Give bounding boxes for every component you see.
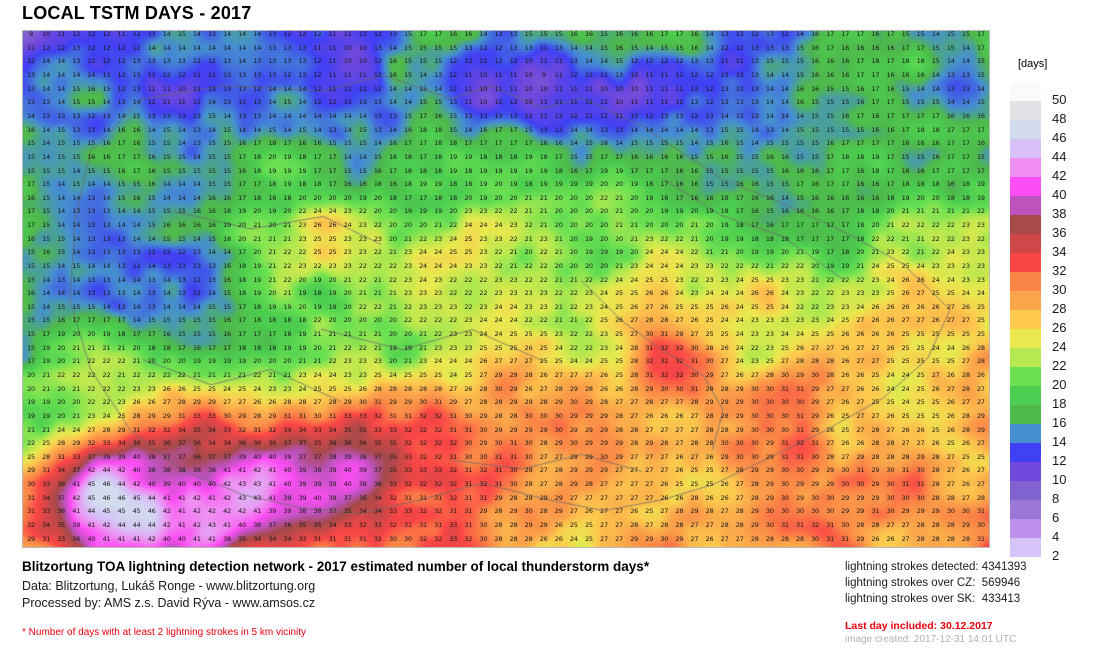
legend-value-label: 8: [1052, 492, 1059, 505]
map-value-cell: 20: [386, 358, 400, 365]
map-value-cell: 13: [718, 86, 732, 93]
map-value-cell: 23: [341, 249, 355, 256]
map-value-cell: 15: [356, 140, 370, 147]
map-value-cell: 29: [974, 427, 988, 434]
map-value-cell: 16: [808, 58, 822, 65]
map-value-cell: 17: [175, 345, 189, 352]
map-value-cell: 14: [461, 127, 475, 134]
map-value-cell: 19: [401, 345, 415, 352]
map-value-cell: 17: [24, 222, 38, 229]
map-value-cell: 32: [431, 440, 445, 447]
map-value-cell: 17: [250, 331, 264, 338]
map-value-cell: 20: [582, 208, 596, 215]
map-value-cell: 25: [416, 372, 430, 379]
map-value-cell: 17: [114, 317, 128, 324]
map-value-cell: 16: [687, 45, 701, 52]
map-value-cell: 15: [160, 317, 174, 324]
map-value-cell: 13: [175, 113, 189, 120]
map-value-cell: 21: [899, 236, 913, 243]
map-value-cell: 29: [823, 481, 837, 488]
map-value-cell: 21: [552, 317, 566, 324]
map-value-cell: 22: [24, 440, 38, 447]
map-value-cell: 12: [672, 72, 686, 79]
map-value-cell: 14: [205, 249, 219, 256]
map-value-cell: 19: [974, 195, 988, 202]
map-value-cell: 38: [295, 508, 309, 515]
map-value-cell: 20: [265, 222, 279, 229]
map-value-cell: 25: [868, 372, 882, 379]
map-value-cell: 31: [446, 454, 460, 461]
map-value-cell: 17: [929, 168, 943, 175]
map-value-cell: 23: [295, 263, 309, 270]
map-value-cell: 21: [929, 208, 943, 215]
map-value-cell: 18: [431, 127, 445, 134]
map-value-cell: 28: [748, 481, 762, 488]
map-value-cell: 21: [250, 222, 264, 229]
map-value-cell: 15: [537, 31, 551, 38]
map-value-row: 9101112121211121314151413141414131212121…: [22, 31, 990, 38]
map-value-cell: 16: [220, 263, 234, 270]
map-value-cell: 15: [748, 168, 762, 175]
map-value-cell: 16: [220, 331, 234, 338]
map-value-cell: 10: [476, 72, 490, 79]
map-value-cell: 19: [582, 181, 596, 188]
map-value-cell: 46: [114, 495, 128, 502]
map-value-cell: 14: [54, 263, 68, 270]
map-value-cell: 23: [868, 277, 882, 284]
map-value-cell: 16: [763, 222, 777, 229]
map-value-cell: 13: [356, 99, 370, 106]
map-value-cell: 14: [175, 127, 189, 134]
map-value-row: 2931343742444240383838383841414241403938…: [22, 467, 990, 474]
map-value-cell: 15: [718, 127, 732, 134]
map-value-cell: 29: [793, 495, 807, 502]
map-value-cell: 18: [250, 345, 264, 352]
map-value-cell: 33: [386, 508, 400, 515]
map-value-cell: 19: [582, 236, 596, 243]
map-value-cell: 26: [944, 413, 958, 420]
map-value-cell: 35: [54, 522, 68, 529]
map-value-cell: 16: [868, 31, 882, 38]
map-value-cell: 18: [250, 317, 264, 324]
map-value-cell: 19: [491, 168, 505, 175]
map-value-cell: 23: [537, 304, 551, 311]
map-value-cell: 26: [838, 331, 852, 338]
map-value-cell: 13: [99, 72, 113, 79]
map-value-cell: 17: [959, 140, 973, 147]
map-value-cell: 35: [341, 427, 355, 434]
map-value-cell: 14: [54, 290, 68, 297]
map-value-cell: 22: [929, 249, 943, 256]
map-value-cell: 14: [295, 113, 309, 120]
map-value-cell: 22: [371, 249, 385, 256]
map-value-cell: 22: [582, 345, 596, 352]
map-value-cell: 13: [265, 58, 279, 65]
map-value-cell: 21: [356, 290, 370, 297]
map-value-cell: 13: [69, 45, 83, 52]
map-value-cell: 31: [461, 522, 475, 529]
map-value-cell: 24: [733, 290, 747, 297]
map-value-cell: 13: [748, 58, 762, 65]
map-value-cell: 31: [461, 427, 475, 434]
map-value-cell: 19: [672, 208, 686, 215]
map-value-cell: 14: [778, 195, 792, 202]
map-value-cell: 15: [220, 127, 234, 134]
map-value-cell: 20: [250, 249, 264, 256]
map-value-cell: 27: [823, 399, 837, 406]
map-value-cell: 28: [944, 536, 958, 543]
map-value-cell: 39: [295, 481, 309, 488]
map-value-cell: 29: [24, 467, 38, 474]
map-value-cell: 14: [160, 290, 174, 297]
map-value-cell: 24: [672, 249, 686, 256]
map-value-cell: 19: [265, 304, 279, 311]
map-value-cell: 24: [416, 263, 430, 270]
map-value-cell: 17: [69, 317, 83, 324]
map-value-cell: 13: [190, 263, 204, 270]
map-value-cell: 15: [944, 45, 958, 52]
map-value-cell: 45: [84, 481, 98, 488]
map-value-cell: 21: [537, 208, 551, 215]
map-value-cell: 15: [763, 168, 777, 175]
map-value-cell: 28: [703, 386, 717, 393]
map-value-cell: 18: [265, 181, 279, 188]
map-value-cell: 12: [295, 31, 309, 38]
map-value-cell: 24: [733, 277, 747, 284]
map-value-cell: 16: [899, 140, 913, 147]
map-value-cell: 16: [401, 127, 415, 134]
map-value-cell: 37: [326, 508, 340, 515]
map-value-cell: 42: [99, 522, 113, 529]
map-value-cell: 16: [205, 195, 219, 202]
map-value-cell: 25: [461, 372, 475, 379]
map-value-cell: 29: [476, 413, 490, 420]
map-value-cell: 22: [899, 249, 913, 256]
map-value-cell: 24: [491, 317, 505, 324]
map-value-cell: 12: [99, 45, 113, 52]
map-value-cell: 18: [914, 181, 928, 188]
map-value-cell: 27: [868, 345, 882, 352]
map-value-cell: 22: [522, 222, 536, 229]
map-value-cell: 13: [763, 45, 777, 52]
map-value-cell: 19: [401, 208, 415, 215]
map-value-cell: 14: [687, 127, 701, 134]
map-value-cell: 28: [914, 536, 928, 543]
map-value-cell: 31: [823, 522, 837, 529]
map-value-cell: 13: [99, 277, 113, 284]
map-value-cell: 15: [24, 249, 38, 256]
map-value-cell: 45: [114, 508, 128, 515]
map-value-cell: 16: [597, 140, 611, 147]
map-value-cell: 16: [310, 140, 324, 147]
map-value-cell: 28: [522, 495, 536, 502]
map-value-cell: 29: [597, 467, 611, 474]
map-value-cell: 22: [672, 236, 686, 243]
map-value-cell: 17: [461, 140, 475, 147]
map-value-row: 3033364145464442403940404042434341403939…: [22, 481, 990, 488]
map-value-cell: 12: [507, 99, 521, 106]
map-value-cell: 17: [838, 236, 852, 243]
map-value-cell: 20: [69, 331, 83, 338]
map-value-cell: 25: [748, 277, 762, 284]
map-value-cell: 14: [341, 127, 355, 134]
map-value-cell: 24: [733, 304, 747, 311]
map-value-cell: 41: [220, 522, 234, 529]
map-value-cell: 31: [793, 454, 807, 461]
map-value-cell: 16: [205, 222, 219, 229]
map-value-cell: 17: [733, 195, 747, 202]
map-value-cell: 12: [627, 58, 641, 65]
map-value-cell: 15: [597, 31, 611, 38]
map-value-cell: 13: [733, 31, 747, 38]
map-value-cell: 13: [718, 31, 732, 38]
map-value-cell: 14: [130, 236, 144, 243]
map-value-cell: 11: [145, 86, 159, 93]
map-value-cell: 24: [310, 208, 324, 215]
map-value-cell: 27: [748, 372, 762, 379]
map-value-cell: 18: [552, 168, 566, 175]
map-value-cell: 12: [657, 58, 671, 65]
map-value-cell: 18: [763, 236, 777, 243]
map-value-cell: 21: [341, 331, 355, 338]
map-value-cell: 21: [280, 372, 294, 379]
map-value-cell: 17: [793, 222, 807, 229]
map-value-cell: 16: [220, 195, 234, 202]
map-value-cell: 13: [507, 113, 521, 120]
map-value-cell: 22: [461, 277, 475, 284]
map-value-cell: 13: [145, 304, 159, 311]
map-value-cell: 12: [99, 31, 113, 38]
map-value-cell: 14: [914, 86, 928, 93]
map-value-cell: 21: [687, 236, 701, 243]
map-value-cell: 17: [114, 154, 128, 161]
map-value-cell: 18: [114, 331, 128, 338]
map-value-cell: 26: [597, 372, 611, 379]
map-value-cell: 27: [944, 386, 958, 393]
map-value-cell: 30: [883, 495, 897, 502]
map-value-cell: 41: [160, 495, 174, 502]
map-value-cell: 20: [371, 208, 385, 215]
map-value-cell: 24: [883, 386, 897, 393]
map-value-cell: 33: [295, 536, 309, 543]
map-value-cell: 26: [160, 386, 174, 393]
map-value-cell: 27: [642, 427, 656, 434]
map-value-cell: 29: [868, 495, 882, 502]
map-value-cell: 22: [416, 236, 430, 243]
map-value-cell: 13: [748, 99, 762, 106]
map-value-cell: 32: [672, 345, 686, 352]
map-value-cell: 19: [582, 249, 596, 256]
map-value-cell: 23: [763, 345, 777, 352]
map-value-cell: 15: [929, 99, 943, 106]
map-value-cell: 16: [883, 127, 897, 134]
map-value-cell: 17: [642, 168, 656, 175]
map-value-cell: 31: [461, 467, 475, 474]
thunderstorm-days-map[interactable]: 9101112121211121314151413141414131212121…: [22, 30, 990, 548]
map-value-cell: 14: [39, 154, 53, 161]
map-value-cell: 26: [672, 413, 686, 420]
footer-right-bottom: Last day included: 30.12.2017 image crea…: [845, 620, 1100, 645]
map-value-cell: 16: [883, 72, 897, 79]
map-value-cell: 21: [567, 317, 581, 324]
map-value-cell: 31: [507, 440, 521, 447]
map-value-cell: 16: [808, 86, 822, 93]
map-value-cell: 21: [401, 358, 415, 365]
map-value-cell: 29: [959, 522, 973, 529]
map-value-cell: 29: [507, 508, 521, 515]
map-value-cell: 15: [974, 58, 988, 65]
map-value-cell: 13: [175, 277, 189, 284]
map-value-cell: 19: [295, 331, 309, 338]
map-value-cell: 23: [944, 263, 958, 270]
map-value-cell: 22: [114, 358, 128, 365]
map-value-cell: 17: [899, 127, 913, 134]
map-value-cell: 25: [552, 358, 566, 365]
map-value-cell: 11: [326, 58, 340, 65]
map-value-cell: 21: [868, 249, 882, 256]
map-value-cell: 26: [974, 372, 988, 379]
map-value-cell: 12: [356, 31, 370, 38]
map-value-cell: 40: [175, 481, 189, 488]
map-value-cell: 33: [341, 522, 355, 529]
map-value-cell: 26: [703, 454, 717, 461]
map-value-cell: 35: [356, 427, 370, 434]
map-value-cell: 27: [868, 413, 882, 420]
map-value-cell: 20: [582, 195, 596, 202]
map-value-cell: 22: [431, 331, 445, 338]
map-value-cell: 31: [974, 536, 988, 543]
map-value-cell: 19: [507, 181, 521, 188]
map-value-cell: 25: [959, 331, 973, 338]
map-value-cell: 42: [130, 481, 144, 488]
map-value-cell: 16: [914, 168, 928, 175]
map-value-cell: 21: [612, 208, 626, 215]
map-value-cell: 45: [130, 508, 144, 515]
map-value-cell: 29: [763, 440, 777, 447]
legend-value-label: 6: [1052, 511, 1059, 524]
map-value-cell: 27: [853, 317, 867, 324]
map-value-cell: 15: [39, 195, 53, 202]
map-value-cell: 28: [703, 427, 717, 434]
map-value-cell: 31: [310, 536, 324, 543]
map-value-cell: 25: [310, 236, 324, 243]
map-value-cell: 22: [341, 345, 355, 352]
map-value-cell: 24: [220, 386, 234, 393]
map-value-cell: 26: [145, 399, 159, 406]
map-value-cell: 36: [371, 481, 385, 488]
map-value-cell: 27: [868, 358, 882, 365]
map-value-cell: 14: [160, 277, 174, 284]
map-value-cell: 16: [672, 168, 686, 175]
map-value-cell: 28: [476, 399, 490, 406]
map-value-cell: 25: [567, 522, 581, 529]
map-value-cell: 23: [838, 290, 852, 297]
map-value-cell: 23: [974, 277, 988, 284]
legend-swatch: [1010, 405, 1041, 424]
map-value-cell: 18: [929, 127, 943, 134]
map-value-row: 1615151413131314141515141518202121212325…: [22, 236, 990, 243]
map-value-cell: 44: [114, 481, 128, 488]
map-value-cell: 17: [250, 181, 264, 188]
map-value-cell: 15: [718, 181, 732, 188]
map-value-cell: 25: [687, 467, 701, 474]
map-value-cell: 41: [69, 481, 83, 488]
map-value-cell: 16: [808, 72, 822, 79]
map-value-cell: 17: [974, 168, 988, 175]
map-value-cell: 27: [838, 454, 852, 461]
map-value-row: 1515161717171714151515151516171818181822…: [22, 317, 990, 324]
map-value-cell: 16: [868, 127, 882, 134]
map-value-cell: 31: [507, 454, 521, 461]
map-value-cell: 15: [808, 154, 822, 161]
map-value-cell: 30: [823, 508, 837, 515]
map-value-cell: 25: [537, 331, 551, 338]
map-value-cell: 26: [883, 317, 897, 324]
map-value-cell: 14: [220, 113, 234, 120]
map-value-cell: 15: [114, 195, 128, 202]
map-value-cell: 26: [522, 345, 536, 352]
map-value-cell: 21: [522, 208, 536, 215]
map-value-cell: 25: [718, 331, 732, 338]
map-value-cell: 12: [371, 31, 385, 38]
map-value-cell: 14: [130, 304, 144, 311]
map-value-cell: 13: [959, 72, 973, 79]
map-value-cell: 22: [295, 249, 309, 256]
map-value-cell: 24: [733, 331, 747, 338]
map-value-cell: 29: [642, 440, 656, 447]
map-value-cell: 25: [974, 304, 988, 311]
map-value-cell: 42: [190, 508, 204, 515]
map-value-cell: 19: [280, 345, 294, 352]
map-value-cell: 33: [386, 427, 400, 434]
map-value-cell: 15: [175, 317, 189, 324]
map-value-cell: 29: [838, 495, 852, 502]
map-value-cell: 18: [250, 195, 264, 202]
map-value-cell: 18: [461, 181, 475, 188]
map-value-cell: 25: [687, 481, 701, 488]
map-value-cell: 28: [718, 427, 732, 434]
map-value-cell: 20: [552, 195, 566, 202]
map-value-cell: 16: [823, 72, 837, 79]
map-value-cell: 14: [130, 317, 144, 324]
map-value-cell: 35: [310, 522, 324, 529]
map-value-cell: 29: [386, 399, 400, 406]
map-value-cell: 16: [552, 140, 566, 147]
map-value-cell: 15: [54, 140, 68, 147]
map-value-cell: 27: [160, 399, 174, 406]
map-value-cell: 39: [280, 508, 294, 515]
map-value-cell: 18: [401, 154, 415, 161]
map-value-cell: 25: [914, 386, 928, 393]
map-value-cell: 14: [220, 45, 234, 52]
map-value-cell: 23: [431, 290, 445, 297]
map-value-cell: 30: [491, 440, 505, 447]
map-value-cell: 28: [431, 386, 445, 393]
map-value-cell: 32: [371, 413, 385, 420]
map-value-cell: 12: [703, 86, 717, 93]
map-value-cell: 42: [220, 481, 234, 488]
map-value-cell: 40: [175, 536, 189, 543]
map-value-cell: 29: [582, 454, 596, 461]
map-value-cell: 13: [733, 99, 747, 106]
map-value-cell: 18: [929, 181, 943, 188]
legend-swatch: [1010, 120, 1041, 139]
map-value-cell: 31: [39, 467, 53, 474]
map-value-cell: 19: [295, 168, 309, 175]
map-value-cell: 14: [130, 277, 144, 284]
map-value-cell: 17: [24, 208, 38, 215]
map-value-cell: 21: [280, 222, 294, 229]
